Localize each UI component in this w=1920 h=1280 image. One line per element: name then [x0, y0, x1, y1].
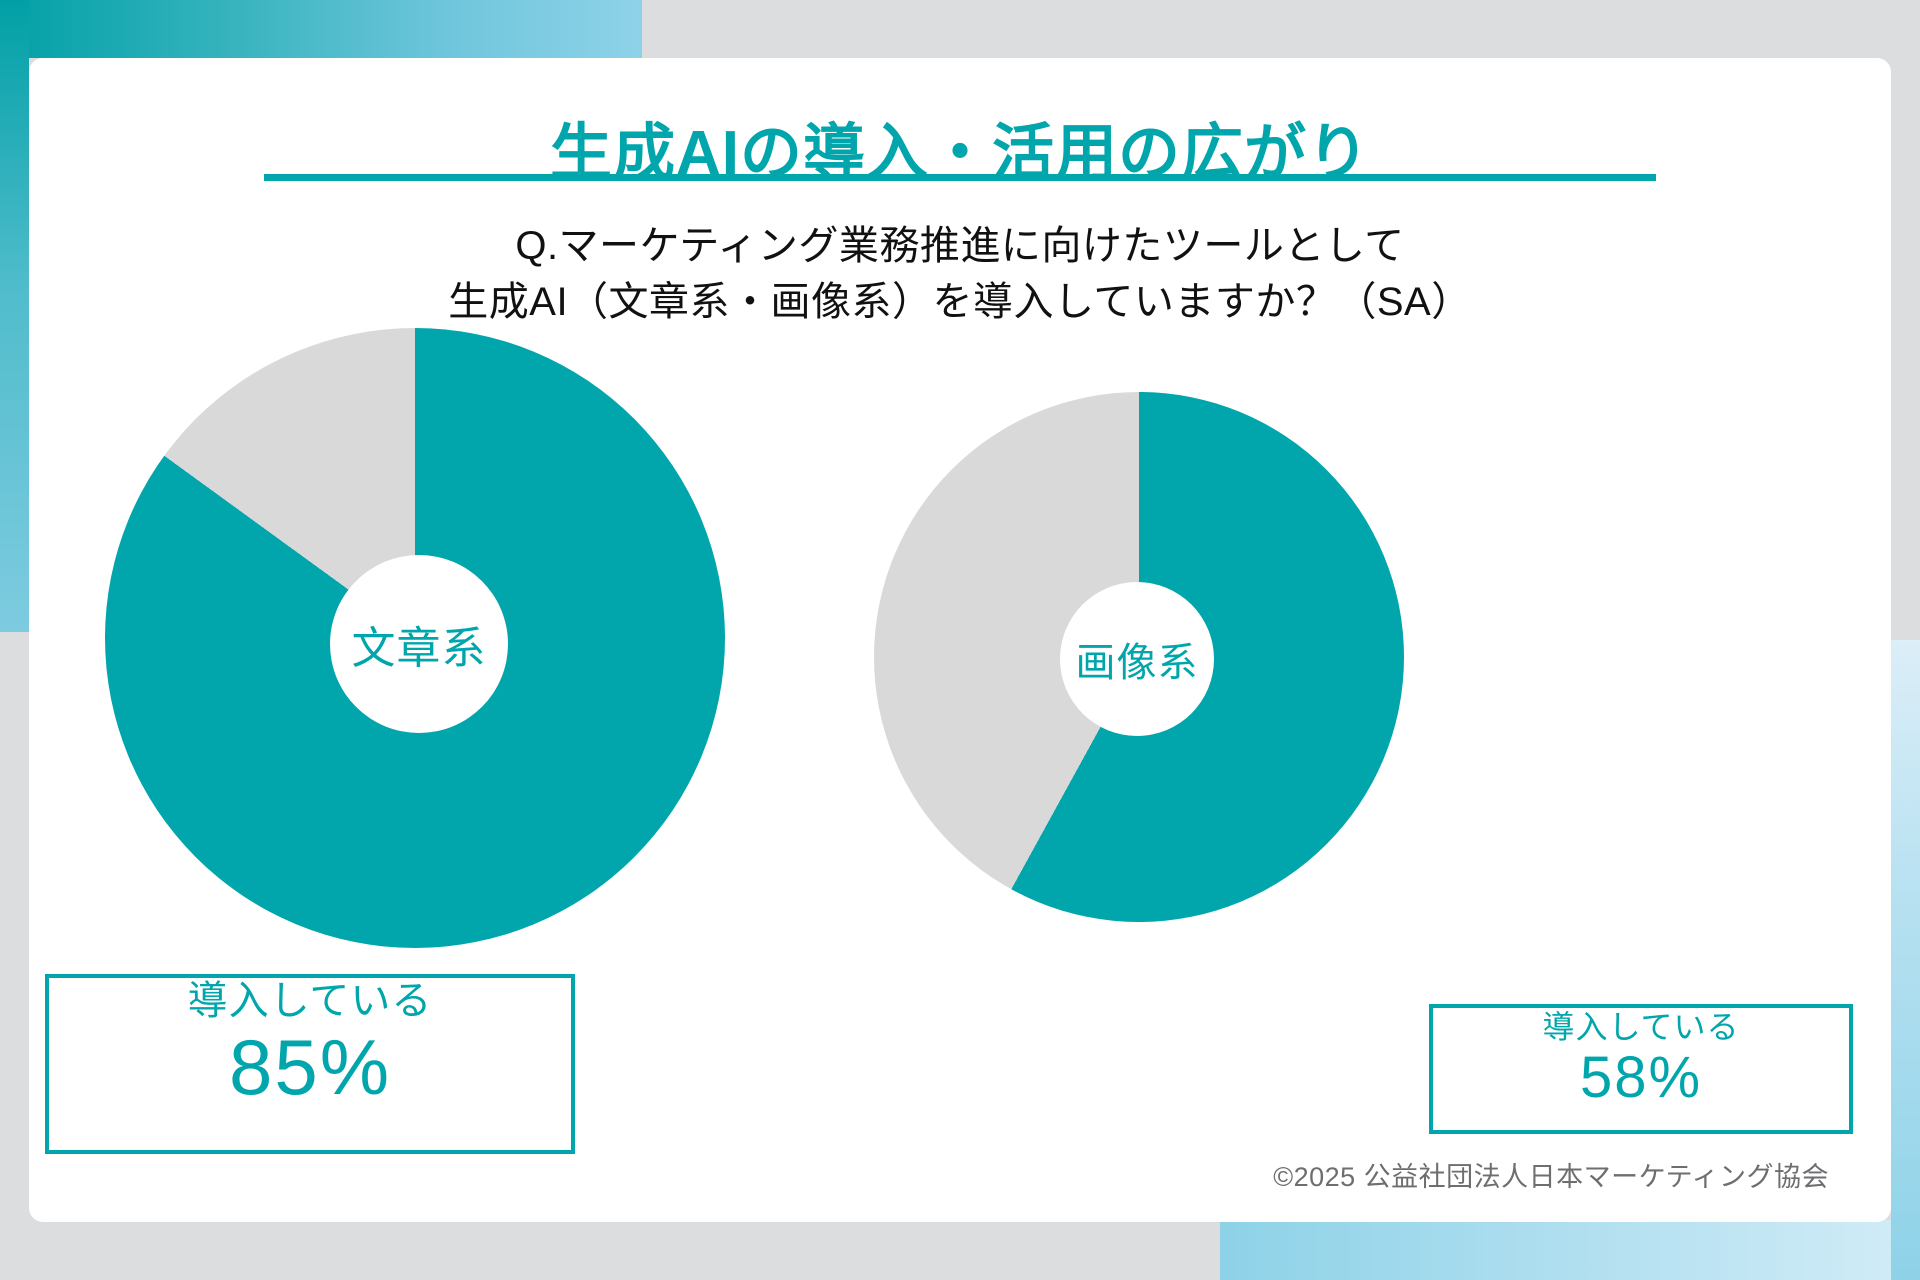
callout-label-text-ai: 導入している: [49, 978, 571, 1024]
title-divider: [264, 174, 1656, 181]
callout-box-image-ai: 導入している 58%: [1429, 1004, 1853, 1134]
question-line-2: 生成AI（文章系・画像系）を導入していますか？（SA）: [29, 274, 1891, 330]
donut-chart-image-ai: 画像系: [874, 392, 1404, 922]
callout-value-text-ai: 85%: [49, 1024, 571, 1110]
decoration-bottom-right-gradient: [1220, 1220, 1920, 1280]
callout-box-text-ai: 導入している 85%: [45, 974, 575, 1154]
copyright-notice: ©2025 公益社団法人日本マーケティング協会: [1273, 1155, 1829, 1194]
decoration-right-bar-gradient: [1891, 640, 1920, 1280]
donut-hole-text-ai: 文章系: [330, 555, 508, 733]
donut-ring-text-ai: 文章系: [105, 328, 725, 948]
decoration-top-left-gradient: [0, 0, 642, 58]
donut-center-label-image-ai: 画像系: [1076, 630, 1199, 688]
question-line-1: Q.マーケティング業務推進に向けたツールとして: [29, 218, 1891, 274]
charts-container: 文章系 画像系 導入している 85% 導入している 58%: [29, 328, 1891, 978]
donut-chart-text-ai: 文章系: [105, 328, 725, 948]
donut-ring-image-ai: 画像系: [874, 392, 1404, 922]
donut-hole-image-ai: 画像系: [1060, 582, 1214, 736]
callout-value-image-ai: 58%: [1433, 1046, 1849, 1110]
decoration-left-bar-gradient: [0, 0, 29, 632]
slide-card: 生成AIの導入・活用の広がり Q.マーケティング業務推進に向けたツールとして 生…: [29, 58, 1891, 1222]
donut-center-label-text-ai: 文章系: [352, 612, 487, 676]
callout-label-image-ai: 導入している: [1433, 1008, 1849, 1046]
question-text: Q.マーケティング業務推進に向けたツールとして 生成AI（文章系・画像系）を導入…: [29, 218, 1891, 330]
